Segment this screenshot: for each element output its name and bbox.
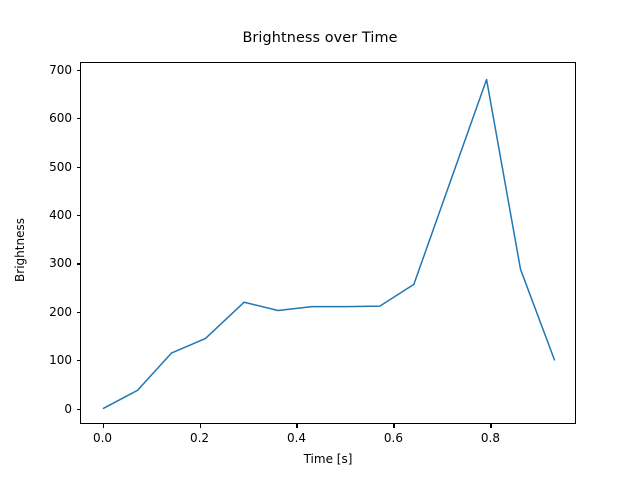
y-tick-label: 0 xyxy=(0,402,72,416)
x-tick-label: 0.8 xyxy=(481,431,500,445)
y-tick-label: 400 xyxy=(0,208,72,222)
x-tick-label: 0.2 xyxy=(190,431,209,445)
y-tick-label: 500 xyxy=(0,160,72,174)
brightness-line-series xyxy=(104,79,555,408)
x-tick-label: 0.4 xyxy=(287,431,306,445)
matplotlib-figure: Brightness over Time Brightness 01002003… xyxy=(0,0,640,480)
chart-title: Brightness over Time xyxy=(0,30,640,46)
y-tick-label: 200 xyxy=(0,305,72,319)
y-tick-label: 600 xyxy=(0,111,72,125)
y-tick-label: 300 xyxy=(0,256,72,270)
x-tick-label: 0.0 xyxy=(93,431,112,445)
y-tick-label: 700 xyxy=(0,63,72,77)
line-plot xyxy=(81,63,577,425)
y-tick-label: 100 xyxy=(0,353,72,367)
plot-axes-area xyxy=(80,62,576,424)
x-axis-label: Time [s] xyxy=(80,452,576,466)
x-tick-label: 0.6 xyxy=(384,431,403,445)
